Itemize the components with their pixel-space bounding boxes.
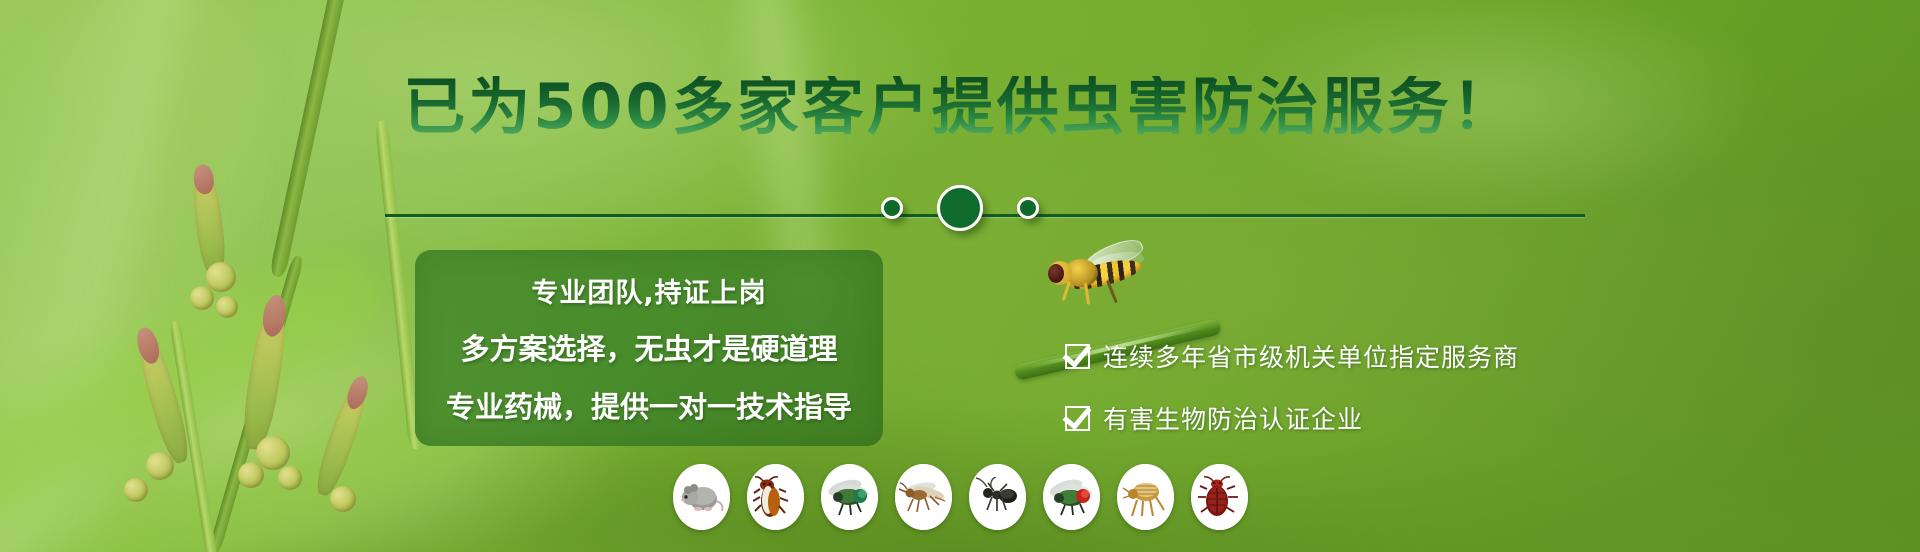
headline-fill-layer: 已为500多家客户提供虫害防治服务！ bbox=[397, 76, 1522, 138]
pest-control-hero-banner: 已为500多家客户提供虫害防治服务！ 已为500多家客户提供虫害防治服务！ 专业… bbox=[0, 0, 1920, 552]
banner-headline: 已为500多家客户提供虫害防治服务！ 已为500多家客户提供虫害防治服务！ bbox=[0, 76, 1920, 138]
bedbug-icon[interactable] bbox=[1191, 464, 1248, 530]
slogan-line-1: 专业团队,持证上岗 bbox=[531, 271, 766, 310]
slogan-line-3: 专业药械，提供一对一技术指导 bbox=[446, 384, 852, 426]
fly-icon[interactable] bbox=[821, 464, 878, 530]
hoverfly-eye-icon bbox=[1048, 264, 1064, 283]
flea-icon[interactable] bbox=[1117, 464, 1174, 530]
credential-item: 连续多年省市级机关单位指定服务商 bbox=[1065, 338, 1519, 374]
slogan-line-2: 多方案选择，无虫才是硬道理 bbox=[460, 326, 837, 368]
credential-item: 有害生物防治认证企业 bbox=[1065, 400, 1519, 436]
cockroach-icon[interactable] bbox=[747, 464, 804, 530]
mosquito-icon[interactable] bbox=[895, 464, 952, 530]
hoverfly-on-leaf-icon bbox=[1040, 247, 1160, 309]
credential-list: 连续多年省市级机关单位指定服务商 有害生物防治认证企业 bbox=[1065, 338, 1519, 436]
blowfly-icon[interactable] bbox=[1043, 464, 1100, 530]
pest-type-icon-row bbox=[0, 464, 1920, 530]
slogan-panel: 专业团队,持证上岗 多方案选择，无虫才是硬道理 专业药械，提供一对一技术指导 bbox=[415, 250, 883, 446]
check-mark-icon bbox=[1065, 344, 1090, 369]
decorative-divider-line bbox=[385, 214, 1585, 217]
rodent-icon[interactable] bbox=[673, 464, 730, 530]
credential-label: 连续多年省市级机关单位指定服务商 bbox=[1103, 338, 1519, 374]
check-mark-icon bbox=[1065, 406, 1090, 431]
credential-label: 有害生物防治认证企业 bbox=[1103, 400, 1363, 436]
ant-icon[interactable] bbox=[969, 464, 1026, 530]
